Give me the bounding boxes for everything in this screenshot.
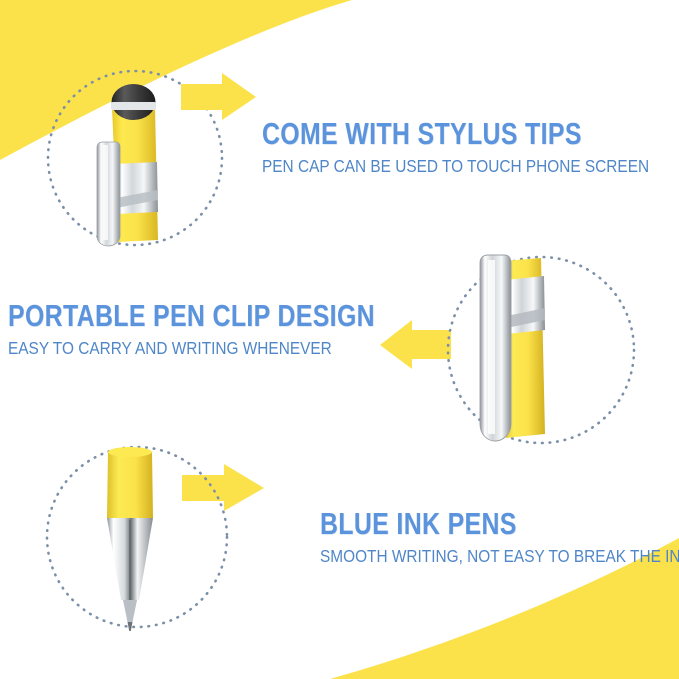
pen-clip [97,142,120,246]
pen-cone-seam [129,520,131,600]
feature-text-pen-clip: PORTABLE PEN CLIP DESIGN EASY TO CARRY A… [8,300,467,358]
feature-headline-pen-clip: PORTABLE PEN CLIP DESIGN [8,300,375,331]
feature-text-blue-ink: BLUE INK PENS SMOOTH WRITING, NOT EASY T… [320,508,679,566]
illustration-pen-stylus-tip-closeup [40,60,280,260]
feature-text-stylus-tips: COME WITH STYLUS TIPS PEN CAP CAN BE USE… [262,118,679,176]
pen-barrel-top [108,447,152,457]
feature-subtitle-blue-ink: SMOOTH WRITING, NOT EASY TO BREAK THE IN… [320,548,679,566]
pen-barrel-yellow [107,452,153,518]
pen-clip-highlight [488,260,495,434]
pen-ballpoint-nib [128,622,133,631]
pen-clip [480,255,511,441]
pen-clip-highlight [103,145,108,240]
feature-subtitle-stylus-tips: PEN CAP CAN BE USED TO TOUCH PHONE SCREE… [262,158,649,176]
feature-subtitle-pen-clip: EASY TO CARRY AND WRITING WHENEVER [8,340,412,358]
illustration-pen-writing-tip-closeup [42,432,282,647]
feature-headline-stylus-tips: COME WITH STYLUS TIPS [262,118,614,149]
product-infographic: COME WITH STYLUS TIPS PEN CAP CAN BE USE… [0,0,679,679]
feature-headline-blue-ink: BLUE INK PENS [320,508,657,539]
stylus-metal-ring [111,102,156,110]
pen-ballpoint-tip [123,600,137,622]
